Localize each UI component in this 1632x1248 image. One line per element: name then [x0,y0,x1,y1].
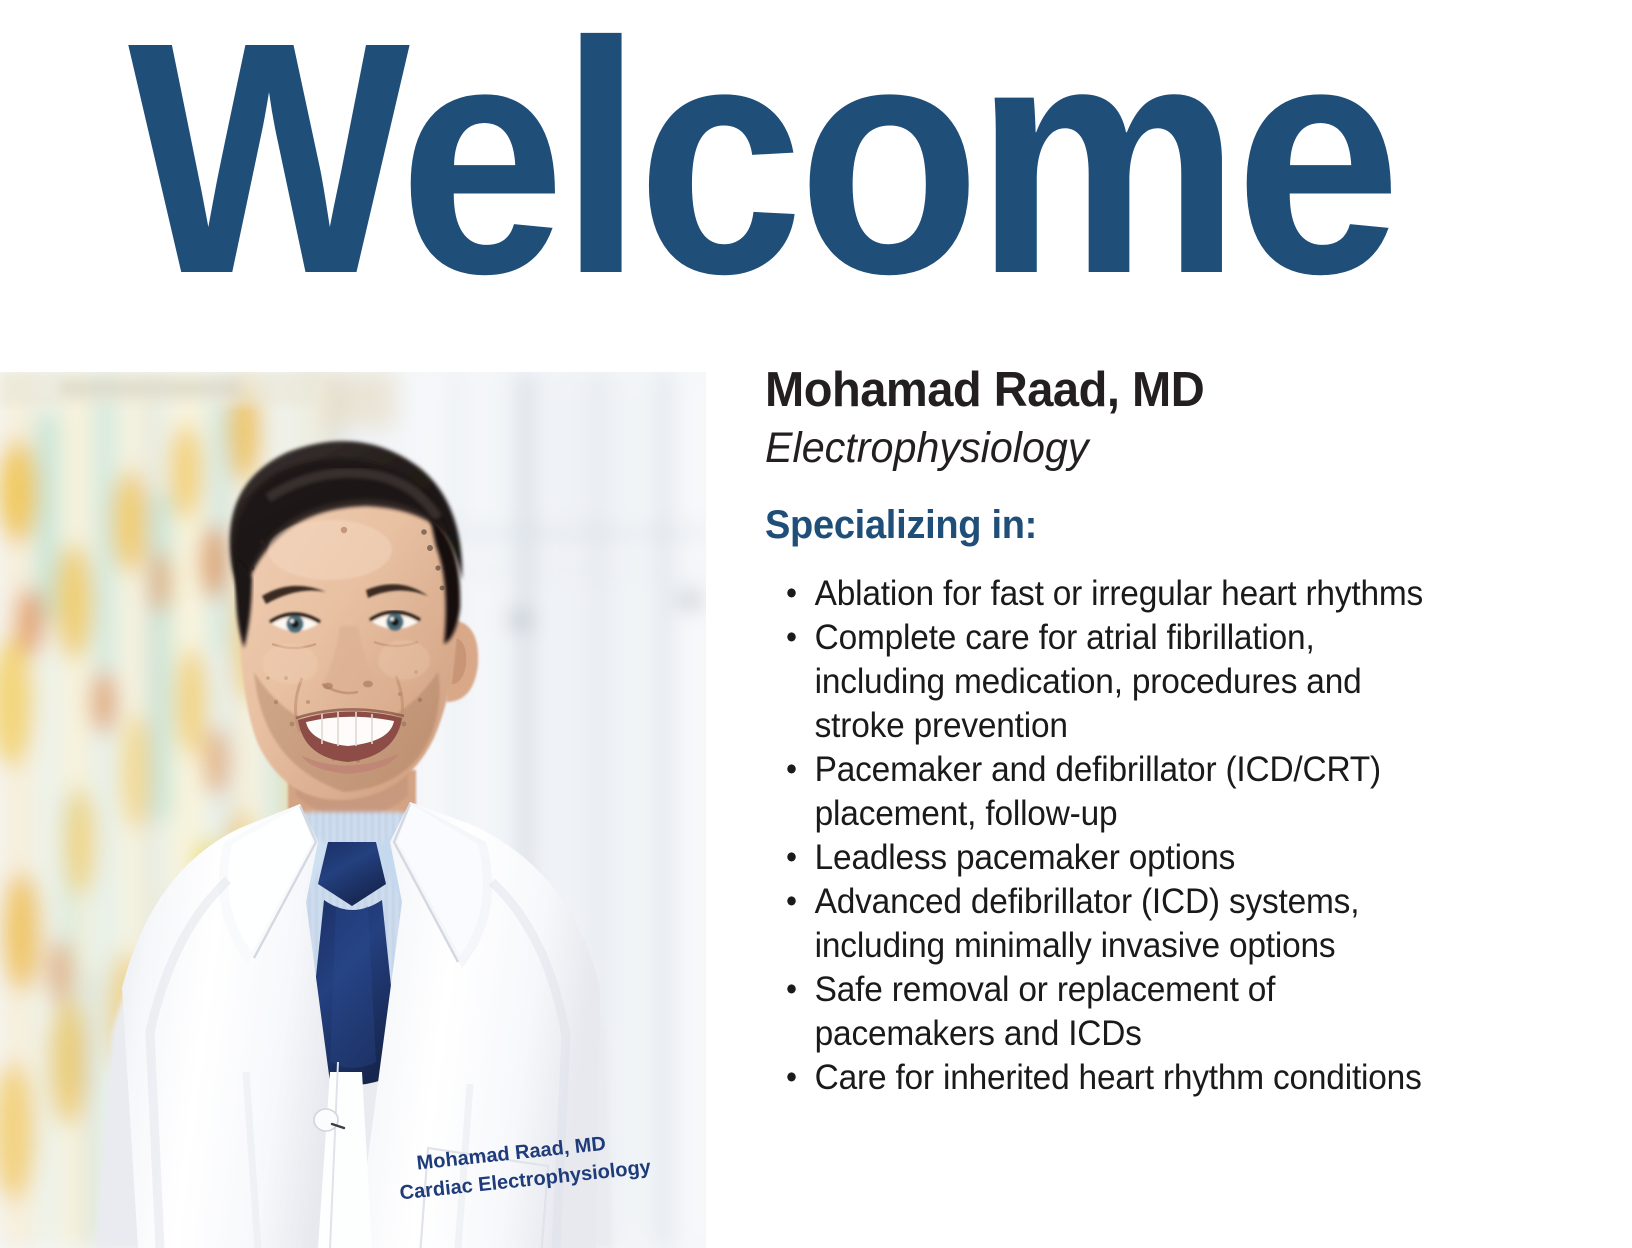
list-item: Leadless pacemaker options [765,836,1434,880]
specializing-list: Ablation for fast or irregular heart rhy… [765,572,1465,1100]
list-item: Care for inherited heart rhythm conditio… [765,1056,1434,1100]
welcome-slide: Welcome [0,0,1632,1248]
doctor-info-panel: Mohamad Raad, MD Electrophysiology Speci… [765,360,1525,1100]
list-item: Ablation for fast or irregular heart rhy… [765,572,1434,616]
portrait-illustration: Mohamad Raad, MD Cardiac Electrophysiolo… [0,372,706,1248]
list-item: Pacemaker and defibrillator (ICD/CRT) pl… [765,748,1434,836]
page-title: Welcome [128,0,1396,338]
doctor-specialty: Electrophysiology [765,420,1495,476]
list-item: Safe removal or replacement of pacemaker… [765,968,1434,1056]
specializing-heading: Specializing in: [765,500,1487,550]
doctor-portrait-photo: Mohamad Raad, MD Cardiac Electrophysiolo… [0,372,706,1248]
headline-band: Welcome [0,0,1632,360]
doctor-name: Mohamad Raad, MD [765,360,1495,420]
list-item: Complete care for atrial fibrillation, i… [765,616,1434,748]
list-item: Advanced defibrillator (ICD) systems, in… [765,880,1434,968]
